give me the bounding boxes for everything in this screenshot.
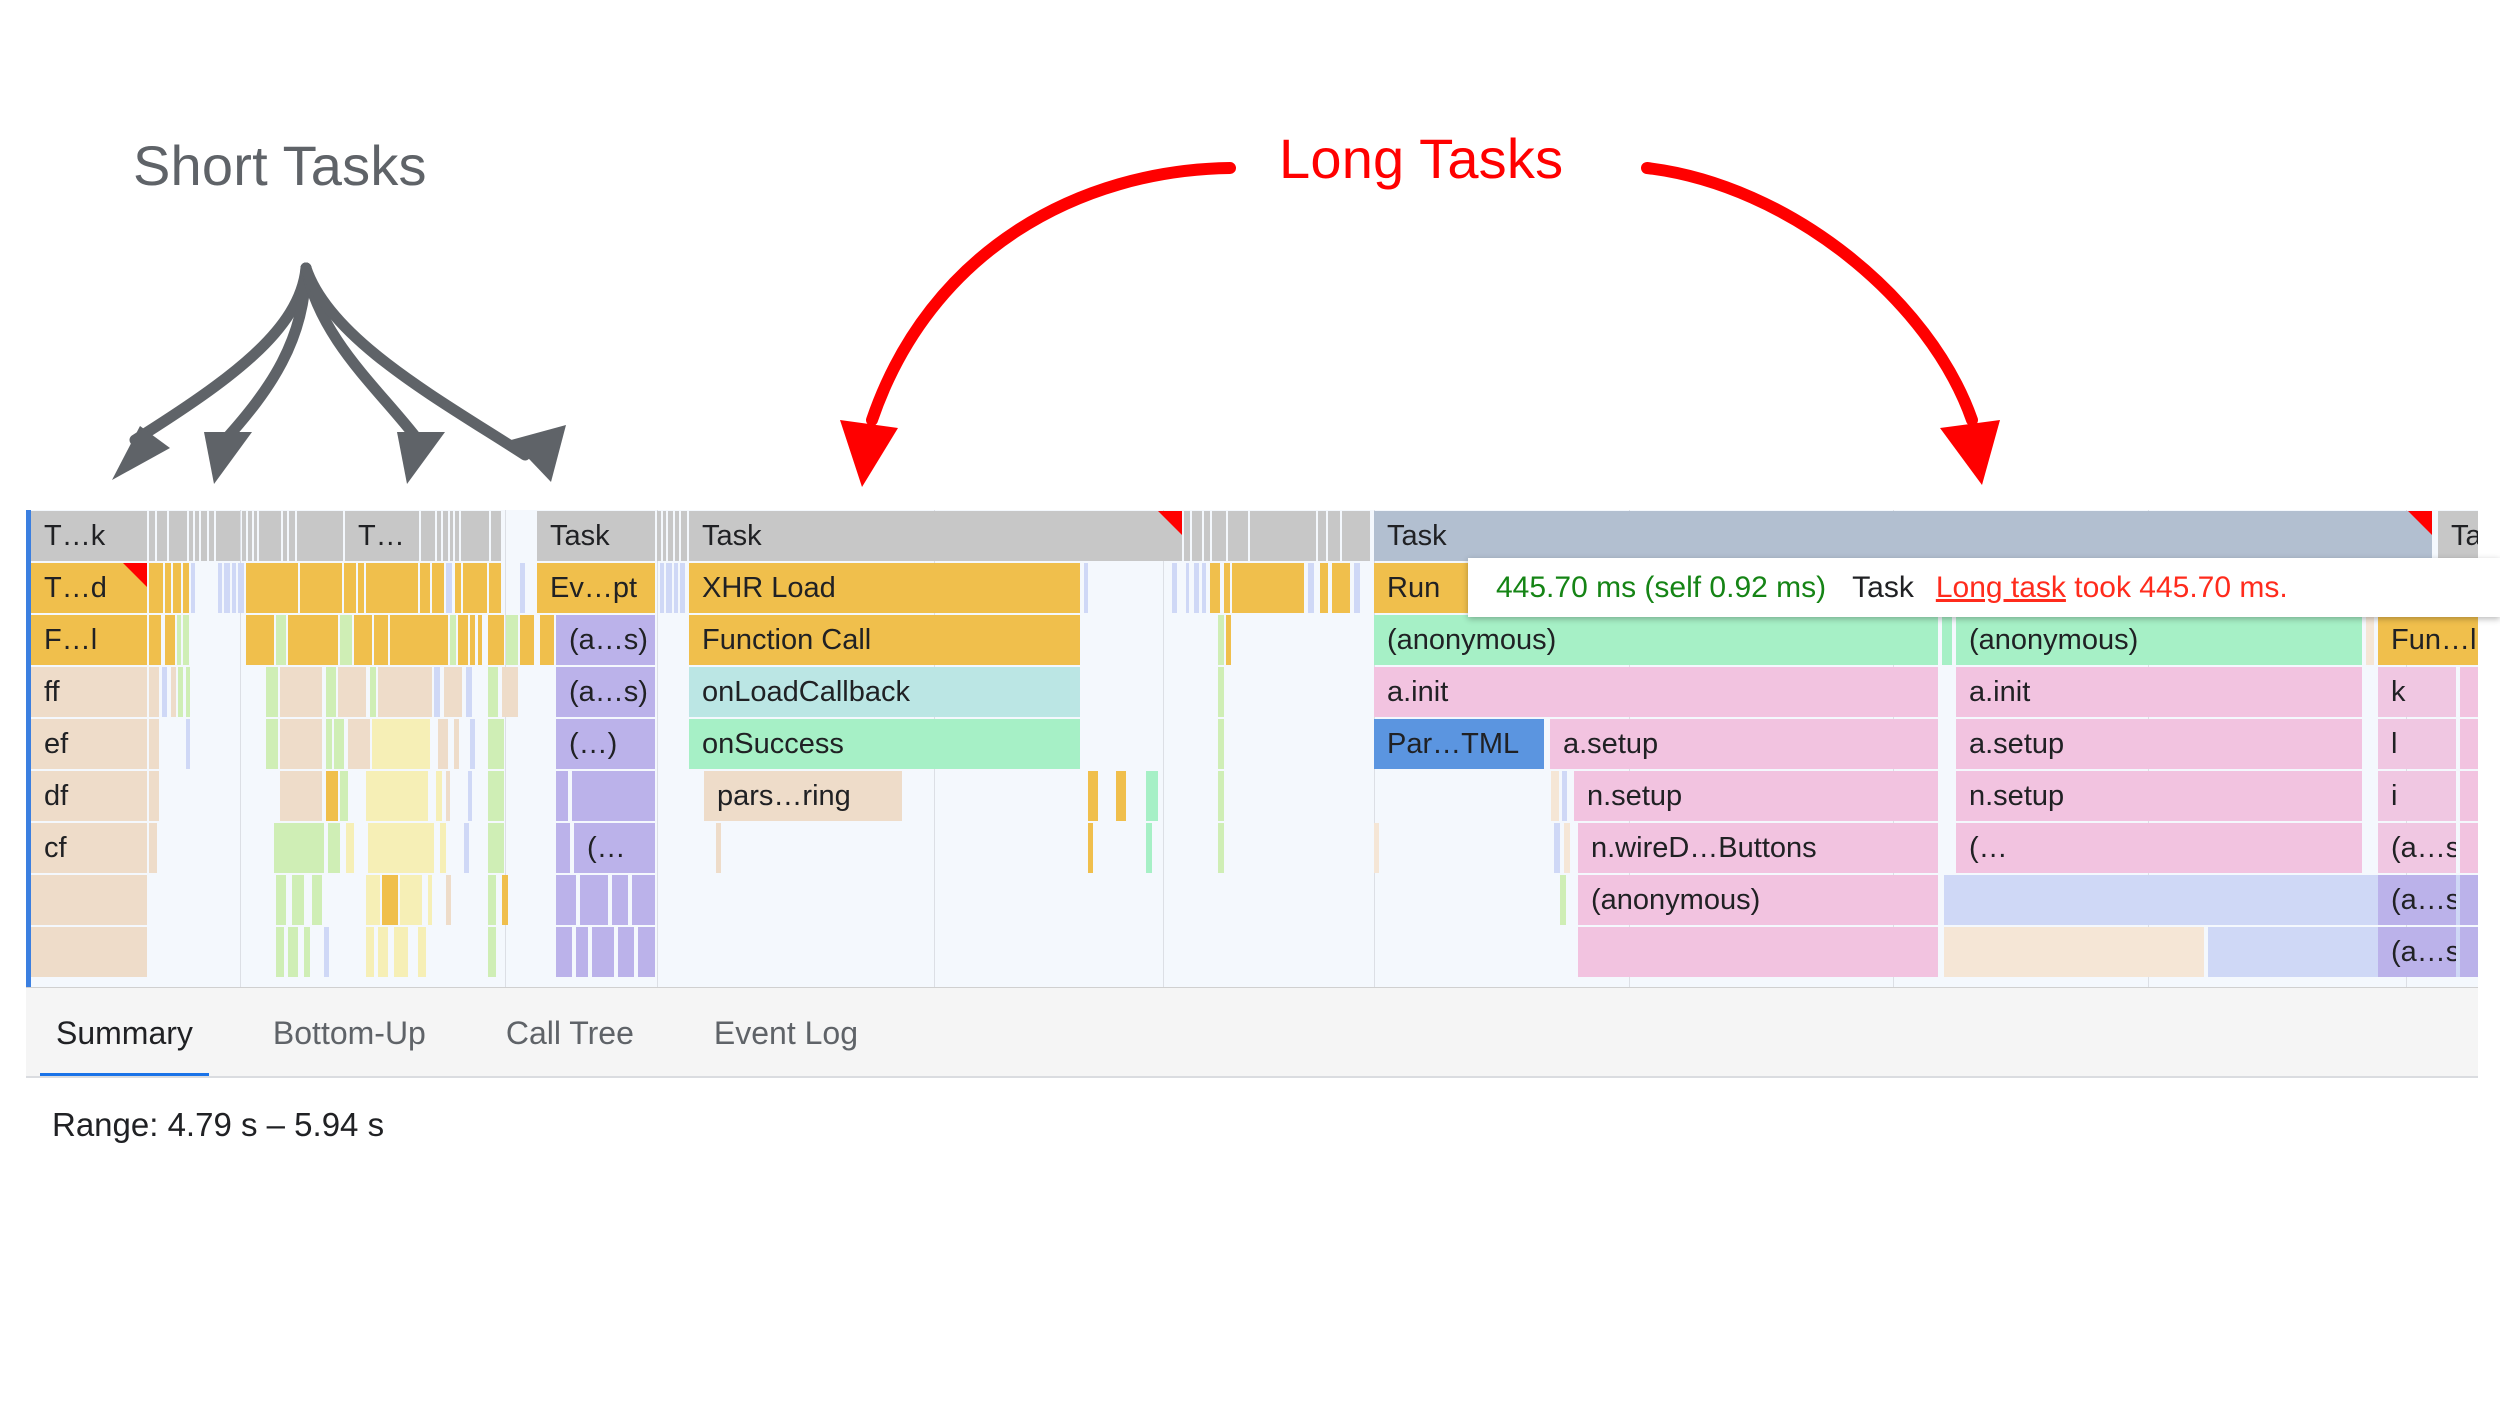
flame-row-function-call-row: F…l(a…s)Function Call(anonymous)(anonymo… [26, 614, 2478, 666]
flame-block[interactable] [2460, 667, 2478, 717]
flame-block-onsuccess[interactable]: onSuccess [689, 719, 1080, 769]
flame-block[interactable] [663, 511, 666, 561]
flame-block[interactable] [556, 927, 572, 977]
flame-block[interactable] [437, 511, 441, 561]
flame-block[interactable] [446, 771, 450, 821]
flame-block[interactable] [326, 667, 336, 717]
flame-block[interactable] [157, 511, 167, 561]
tooltip-duration: 445.70 ms (self 0.92 ms) [1496, 571, 1826, 605]
flame-block[interactable] [195, 511, 199, 561]
flame-block[interactable] [165, 615, 175, 665]
flame-block-label: a.init [1374, 676, 1448, 709]
flame-block[interactable] [149, 615, 161, 665]
flame-block[interactable] [1218, 615, 1224, 665]
flame-block[interactable] [455, 563, 461, 613]
flame-block[interactable] [297, 511, 343, 561]
flame-block[interactable] [1184, 511, 1190, 561]
flame-block[interactable] [259, 511, 281, 561]
flame-block[interactable] [1564, 823, 1570, 873]
event-tooltip: 445.70 ms (self 0.92 ms) Task Long task … [1468, 558, 2500, 617]
flame-block[interactable] [1210, 563, 1220, 613]
flame-block-label: n.setup [1574, 780, 1682, 813]
flame-block[interactable] [446, 563, 452, 613]
flame-block[interactable] [592, 927, 614, 977]
flame-block-cf[interactable]: cf [31, 823, 147, 873]
flame-block[interactable] [149, 823, 157, 873]
flame-block-label: (a…s) [556, 624, 648, 657]
flame-block[interactable] [454, 719, 459, 769]
flame-block[interactable] [464, 823, 469, 873]
flame-block[interactable] [1354, 563, 1360, 613]
flame-block[interactable] [1554, 823, 1560, 873]
flame-block[interactable] [502, 667, 518, 717]
flame-block[interactable] [390, 615, 448, 665]
flame-block[interactable] [328, 823, 340, 873]
flame-block-label: n.setup [1956, 780, 2064, 813]
flame-block-label: (a…s) [556, 676, 648, 709]
flame-block[interactable] [421, 511, 435, 561]
flame-block-ev-pt[interactable]: Ev…pt [537, 563, 655, 613]
flame-block[interactable] [716, 823, 721, 873]
tooltip-warning: Long task took 445.70 ms. [1936, 571, 2288, 605]
flame-block-fun-ll[interactable]: Fun…ll [2378, 615, 2478, 665]
flame-block[interactable] [304, 927, 310, 977]
flame-block[interactable] [450, 615, 456, 665]
flame-block-[interactable]: (… [1956, 823, 2362, 873]
flame-block-pars-ring[interactable]: pars…ring [704, 771, 902, 821]
flame-block[interactable] [201, 511, 207, 561]
flame-block[interactable] [618, 927, 634, 977]
flame-block[interactable] [338, 667, 366, 717]
flame-block[interactable] [246, 563, 298, 613]
flame-block[interactable] [2460, 875, 2478, 925]
flame-block-label: (a…s) [2378, 884, 2456, 917]
flame-block[interactable] [1250, 511, 1316, 561]
flame-block[interactable] [572, 771, 655, 821]
flame-block[interactable] [612, 875, 628, 925]
flame-block-a-s[interactable]: (a…s) [2378, 927, 2456, 977]
flame-block-label: (a…s) [2378, 936, 2456, 969]
flame-block-label: Task [689, 520, 762, 553]
flame-block-t-k[interactable]: T…k [31, 511, 147, 561]
flame-block-label: k [2378, 676, 2406, 709]
flame-block[interactable] [324, 927, 329, 977]
flame-block[interactable] [1218, 667, 1224, 717]
flame-block[interactable] [458, 615, 468, 665]
flame-block-label: Task [537, 520, 610, 553]
flame-block-n-wired-buttons[interactable]: n.wireD…Buttons [1578, 823, 1938, 873]
flame-block[interactable] [556, 823, 570, 873]
flame-block-anonymous[interactable]: (anonymous) [1956, 615, 2362, 665]
flame-block-label: T…k [31, 520, 105, 553]
flame-block[interactable] [1192, 511, 1202, 561]
flame-block[interactable] [292, 875, 304, 925]
flame-block-f-l[interactable]: F…l [31, 615, 147, 665]
flame-block[interactable] [668, 511, 673, 561]
flame-block-a-s[interactable]: (a…s) [556, 615, 655, 665]
flame-block[interactable] [1320, 563, 1328, 613]
flame-block[interactable] [520, 615, 534, 665]
flame-block[interactable] [254, 511, 257, 561]
flame-block[interactable] [520, 563, 525, 613]
flame-block[interactable] [1186, 563, 1189, 613]
flame-block[interactable] [358, 563, 364, 613]
flame-block[interactable] [450, 511, 453, 561]
flame-block-a-init[interactable]: a.init [1374, 667, 1938, 717]
flame-block[interactable] [344, 563, 356, 613]
flame-block-label: a.init [1956, 676, 2030, 709]
flame-block[interactable] [242, 511, 246, 561]
flame-block[interactable] [312, 875, 322, 925]
flame-block[interactable] [1224, 563, 1230, 613]
flame-block-i[interactable]: i [2378, 771, 2456, 821]
flame-block[interactable] [173, 563, 181, 613]
flame-block[interactable] [674, 563, 678, 613]
flame-block[interactable] [455, 511, 459, 561]
flame-block[interactable] [680, 563, 685, 613]
flame-block-label: Task [2438, 520, 2478, 553]
flame-block[interactable] [675, 511, 679, 561]
flame-block-t-d[interactable]: T…d [31, 563, 147, 613]
flame-block-label: Ev…pt [537, 572, 637, 605]
flame-block[interactable] [191, 563, 195, 613]
flame-block[interactable] [366, 875, 380, 925]
tooltip-warning-link: Long task [1936, 571, 2066, 604]
flame-block[interactable] [288, 615, 338, 665]
flame-block[interactable] [470, 615, 475, 665]
flame-block-label: ef [31, 728, 68, 761]
flame-block[interactable] [2460, 823, 2478, 873]
flame-block[interactable] [149, 667, 159, 717]
flame-block[interactable] [288, 927, 298, 977]
flame-block[interactable] [657, 511, 661, 561]
flame-block[interactable] [368, 823, 434, 873]
tooltip-event-name: Task [1852, 571, 1914, 605]
flame-block[interactable] [149, 563, 163, 613]
flame-block-label: l [2378, 728, 2397, 761]
flame-block[interactable] [2366, 615, 2374, 665]
flame-block[interactable] [248, 511, 252, 561]
flame-block-label: T…d [31, 572, 107, 605]
flame-block[interactable] [436, 771, 442, 821]
tab-bottom-up[interactable]: Bottom-Up [273, 988, 426, 1078]
flame-block[interactable] [488, 875, 496, 925]
flame-block[interactable] [1942, 615, 1952, 665]
flame-block[interactable] [1232, 563, 1304, 613]
flame-block-l[interactable]: l [2378, 719, 2456, 769]
flame-block[interactable] [491, 511, 501, 561]
flame-block[interactable] [1146, 771, 1158, 821]
flame-block[interactable] [189, 511, 193, 561]
tab-event-log[interactable]: Event Log [714, 988, 858, 1078]
flame-block[interactable] [183, 563, 189, 613]
flame-block[interactable] [681, 511, 687, 561]
flame-block[interactable] [366, 771, 428, 821]
flame-block-label: Fun…ll [2378, 624, 2478, 657]
flame-block[interactable] [461, 511, 489, 561]
flame-block[interactable] [1578, 927, 1938, 977]
flame-block[interactable] [378, 667, 432, 717]
flame-block[interactable] [326, 771, 338, 821]
flame-block[interactable] [506, 615, 518, 665]
flame-block-label: onSuccess [689, 728, 844, 761]
flame-block-label: (a…s) [2378, 832, 2456, 865]
flame-block[interactable] [1318, 511, 1326, 561]
flame-block[interactable] [1212, 511, 1226, 561]
flame-block[interactable] [340, 771, 348, 821]
flame-block-label: a.setup [1550, 728, 1658, 761]
flame-block-label: onLoadCallback [689, 676, 910, 709]
flame-block[interactable] [370, 667, 376, 717]
flame-block-a-s[interactable]: (a…s) [556, 667, 655, 717]
tab-call-tree[interactable]: Call Tree [506, 988, 634, 1078]
flame-block[interactable] [432, 563, 444, 613]
flame-block[interactable] [186, 667, 190, 717]
flame-block[interactable] [162, 667, 167, 717]
flame-block[interactable] [366, 927, 374, 977]
flame-block-ff[interactable]: ff [31, 667, 147, 717]
flame-block-df[interactable]: df [31, 771, 147, 821]
flame-block[interactable] [280, 771, 322, 821]
flame-block-k[interactable]: k [2378, 667, 2456, 717]
flame-block[interactable] [246, 615, 274, 665]
flame-block-[interactable]: (…) [556, 719, 655, 769]
flame-block[interactable] [274, 823, 324, 873]
flame-block[interactable] [378, 927, 388, 977]
long-task-warning-icon [2408, 511, 2432, 535]
flame-block[interactable] [1218, 823, 1224, 873]
flame-block[interactable] [283, 511, 287, 561]
flame-block[interactable] [276, 927, 284, 977]
flame-block-par-tml[interactable]: Par…TML [1374, 719, 1544, 769]
flame-block[interactable] [488, 927, 496, 977]
flame-block[interactable] [382, 875, 398, 925]
flame-block[interactable] [420, 563, 430, 613]
drawer-tabs[interactable]: SummaryBottom-UpCall TreeEvent Log [26, 988, 898, 1078]
long-tasks-annotation-label: Long Tasks [1279, 126, 1563, 191]
flame-block[interactable] [218, 563, 222, 613]
flame-block[interactable] [1562, 771, 1567, 821]
flame-block[interactable] [1328, 511, 1340, 561]
flame-block[interactable] [169, 511, 187, 561]
annotation-arrows [0, 0, 2500, 560]
flame-block[interactable] [488, 823, 504, 873]
flame-block[interactable] [1088, 771, 1098, 821]
flame-block[interactable] [1194, 563, 1199, 613]
flame-block-[interactable]: (… [574, 823, 655, 873]
flame-block[interactable] [488, 719, 504, 769]
flame-block[interactable] [177, 615, 181, 665]
flame-block-anonymous[interactable]: (anonymous) [1374, 615, 1938, 665]
flame-block[interactable] [31, 875, 147, 925]
flame-block[interactable] [1551, 771, 1559, 821]
flame-row-cf-row: cf(…n.wireD…Buttons(…(a…s) [26, 822, 2478, 874]
flame-block-task[interactable]: Task [2438, 511, 2478, 561]
flame-block[interactable] [186, 719, 190, 769]
flame-block[interactable] [209, 511, 214, 561]
flame-block[interactable] [346, 823, 354, 873]
flame-row-deep-row-2: (a…s) [26, 926, 2478, 978]
flame-block[interactable] [1088, 823, 1093, 873]
flame-block[interactable] [666, 563, 672, 613]
flame-block-label: (…) [556, 728, 617, 761]
flame-block[interactable] [1374, 823, 1379, 873]
flame-block[interactable] [224, 563, 230, 613]
flame-block[interactable] [638, 927, 655, 977]
flame-block[interactable] [2460, 719, 2478, 769]
flame-block[interactable] [1084, 563, 1088, 613]
flame-block-task[interactable]: Task [1374, 511, 2432, 561]
flame-block[interactable] [478, 615, 482, 665]
flame-block[interactable] [165, 563, 171, 613]
long-task-warning-icon [1158, 511, 1182, 535]
flame-block[interactable] [428, 875, 432, 925]
flame-block-xhr-load[interactable]: XHR Load [689, 563, 1080, 613]
flame-block[interactable] [171, 667, 176, 717]
flame-block[interactable] [340, 615, 352, 665]
flame-block-onloadcallback[interactable]: onLoadCallback [689, 667, 1080, 717]
flame-block[interactable] [540, 615, 554, 665]
flame-block[interactable] [334, 719, 344, 769]
range-summary-text: Range: 4.79 s – 5.94 s [52, 1106, 384, 1144]
flame-block[interactable] [470, 719, 475, 769]
tooltip-warning-rest: took 445.70 ms. [2066, 571, 2288, 604]
flame-block[interactable] [394, 927, 408, 977]
flame-block[interactable] [366, 563, 418, 613]
flame-block-a-s[interactable]: (a…s) [2378, 823, 2456, 873]
flame-block[interactable] [632, 875, 655, 925]
flame-block[interactable] [372, 719, 430, 769]
flame-block-label: XHR Load [689, 572, 836, 605]
flame-block[interactable] [1146, 823, 1152, 873]
flame-block[interactable] [183, 615, 189, 665]
flame-block[interactable] [444, 667, 462, 717]
flame-block-label: a.setup [1956, 728, 2064, 761]
flame-block[interactable] [2460, 771, 2478, 821]
flame-block-label: i [2378, 780, 2397, 813]
flame-block-task[interactable]: Task [689, 511, 1182, 561]
flame-block-label: F…l [31, 624, 97, 657]
flame-block[interactable] [488, 771, 504, 821]
flame-block[interactable] [660, 563, 664, 613]
flame-block[interactable] [276, 875, 286, 925]
flame-block-label: cf [31, 832, 67, 865]
flame-block[interactable] [1218, 719, 1224, 769]
flame-block[interactable] [434, 667, 440, 717]
flame-block[interactable] [1172, 563, 1177, 613]
flame-row-df-row: dfpars…ringn.setupn.setupi [26, 770, 2478, 822]
flame-block[interactable] [354, 615, 372, 665]
flame-block[interactable] [1116, 771, 1126, 821]
flame-block[interactable] [576, 927, 588, 977]
flame-block[interactable] [488, 667, 498, 717]
flame-block[interactable] [2460, 927, 2478, 977]
flame-block[interactable] [300, 563, 342, 613]
flame-block[interactable] [149, 771, 159, 821]
flame-block-label: Run [1374, 572, 1440, 605]
flame-block-task[interactable]: Task [537, 511, 655, 561]
flame-block[interactable] [238, 563, 244, 613]
flame-block-a-init[interactable]: a.init [1956, 667, 2362, 717]
flame-block[interactable] [280, 719, 322, 769]
flame-block[interactable] [31, 927, 147, 977]
flame-block[interactable] [149, 511, 155, 561]
flame-block[interactable] [438, 719, 448, 769]
flame-block[interactable] [1560, 875, 1566, 925]
flame-block-t[interactable]: T… [345, 511, 419, 561]
flame-block[interactable] [1218, 771, 1224, 821]
flame-block[interactable] [348, 719, 370, 769]
flame-block[interactable] [232, 563, 236, 613]
flame-block-label: n.wireD…Buttons [1578, 832, 1817, 865]
flame-block[interactable] [280, 667, 322, 717]
flame-block-label: T… [345, 520, 405, 553]
flame-block-label: Par…TML [1374, 728, 1519, 761]
flame-block[interactable] [266, 719, 278, 769]
flame-block[interactable] [556, 875, 576, 925]
flame-block[interactable] [489, 563, 501, 613]
flame-block[interactable] [276, 615, 286, 665]
flame-block[interactable] [468, 771, 472, 821]
flame-block-a-setup[interactable]: a.setup [1956, 719, 2362, 769]
flame-block[interactable] [1308, 563, 1314, 613]
flame-block-label: ff [31, 676, 60, 709]
flame-block[interactable] [178, 667, 183, 717]
flame-block[interactable] [488, 615, 504, 665]
flame-block[interactable] [1342, 511, 1370, 561]
flame-block[interactable] [556, 771, 568, 821]
flame-block-label: Function Call [689, 624, 871, 657]
flame-row-ff-row: ff(a…s)onLoadCallbacka.inita.initk [26, 666, 2478, 718]
flame-block[interactable] [1202, 563, 1206, 613]
flame-block[interactable] [374, 615, 388, 665]
details-drawer: SummaryBottom-UpCall TreeEvent Log [26, 987, 2478, 1077]
flame-block[interactable] [1204, 511, 1210, 561]
flame-block[interactable] [443, 511, 448, 561]
flame-block[interactable] [446, 875, 451, 925]
flame-block-function-call[interactable]: Function Call [689, 615, 1080, 665]
flame-row-task-row: T…kT…TaskTaskTaskTask [26, 510, 2478, 562]
tab-summary[interactable]: Summary [56, 988, 193, 1078]
flame-block[interactable] [1228, 511, 1248, 561]
flame-block[interactable] [266, 667, 278, 717]
flame-block[interactable] [466, 667, 472, 717]
flame-block-ef[interactable]: ef [31, 719, 147, 769]
flame-block[interactable] [216, 511, 240, 561]
flame-row-deep-row-1: (anonymous)(a…s) [26, 874, 2478, 926]
flame-block[interactable] [149, 719, 159, 769]
flame-block-a-setup[interactable]: a.setup [1550, 719, 1938, 769]
flame-block[interactable] [580, 875, 608, 925]
flame-block[interactable] [1332, 563, 1350, 613]
flame-block[interactable] [326, 719, 332, 769]
flame-block-a-s[interactable]: (a…s) [2378, 875, 2456, 925]
flame-block-label: (… [574, 832, 626, 865]
flame-block[interactable] [1226, 615, 1231, 665]
flame-block[interactable] [289, 511, 295, 561]
short-tasks-annotation-label: Short Tasks [133, 133, 427, 198]
flame-block[interactable] [418, 927, 426, 977]
flame-block-anonymous[interactable]: (anonymous) [1578, 875, 1938, 925]
flame-block-n-setup[interactable]: n.setup [1956, 771, 2362, 821]
flame-block-label: (anonymous) [1374, 624, 1556, 657]
flame-block[interactable] [463, 563, 487, 613]
flame-block[interactable] [1944, 927, 2204, 977]
flame-block[interactable] [502, 875, 508, 925]
flame-block[interactable] [440, 823, 446, 873]
flame-block-n-setup[interactable]: n.setup [1574, 771, 1938, 821]
flame-block[interactable] [400, 875, 422, 925]
